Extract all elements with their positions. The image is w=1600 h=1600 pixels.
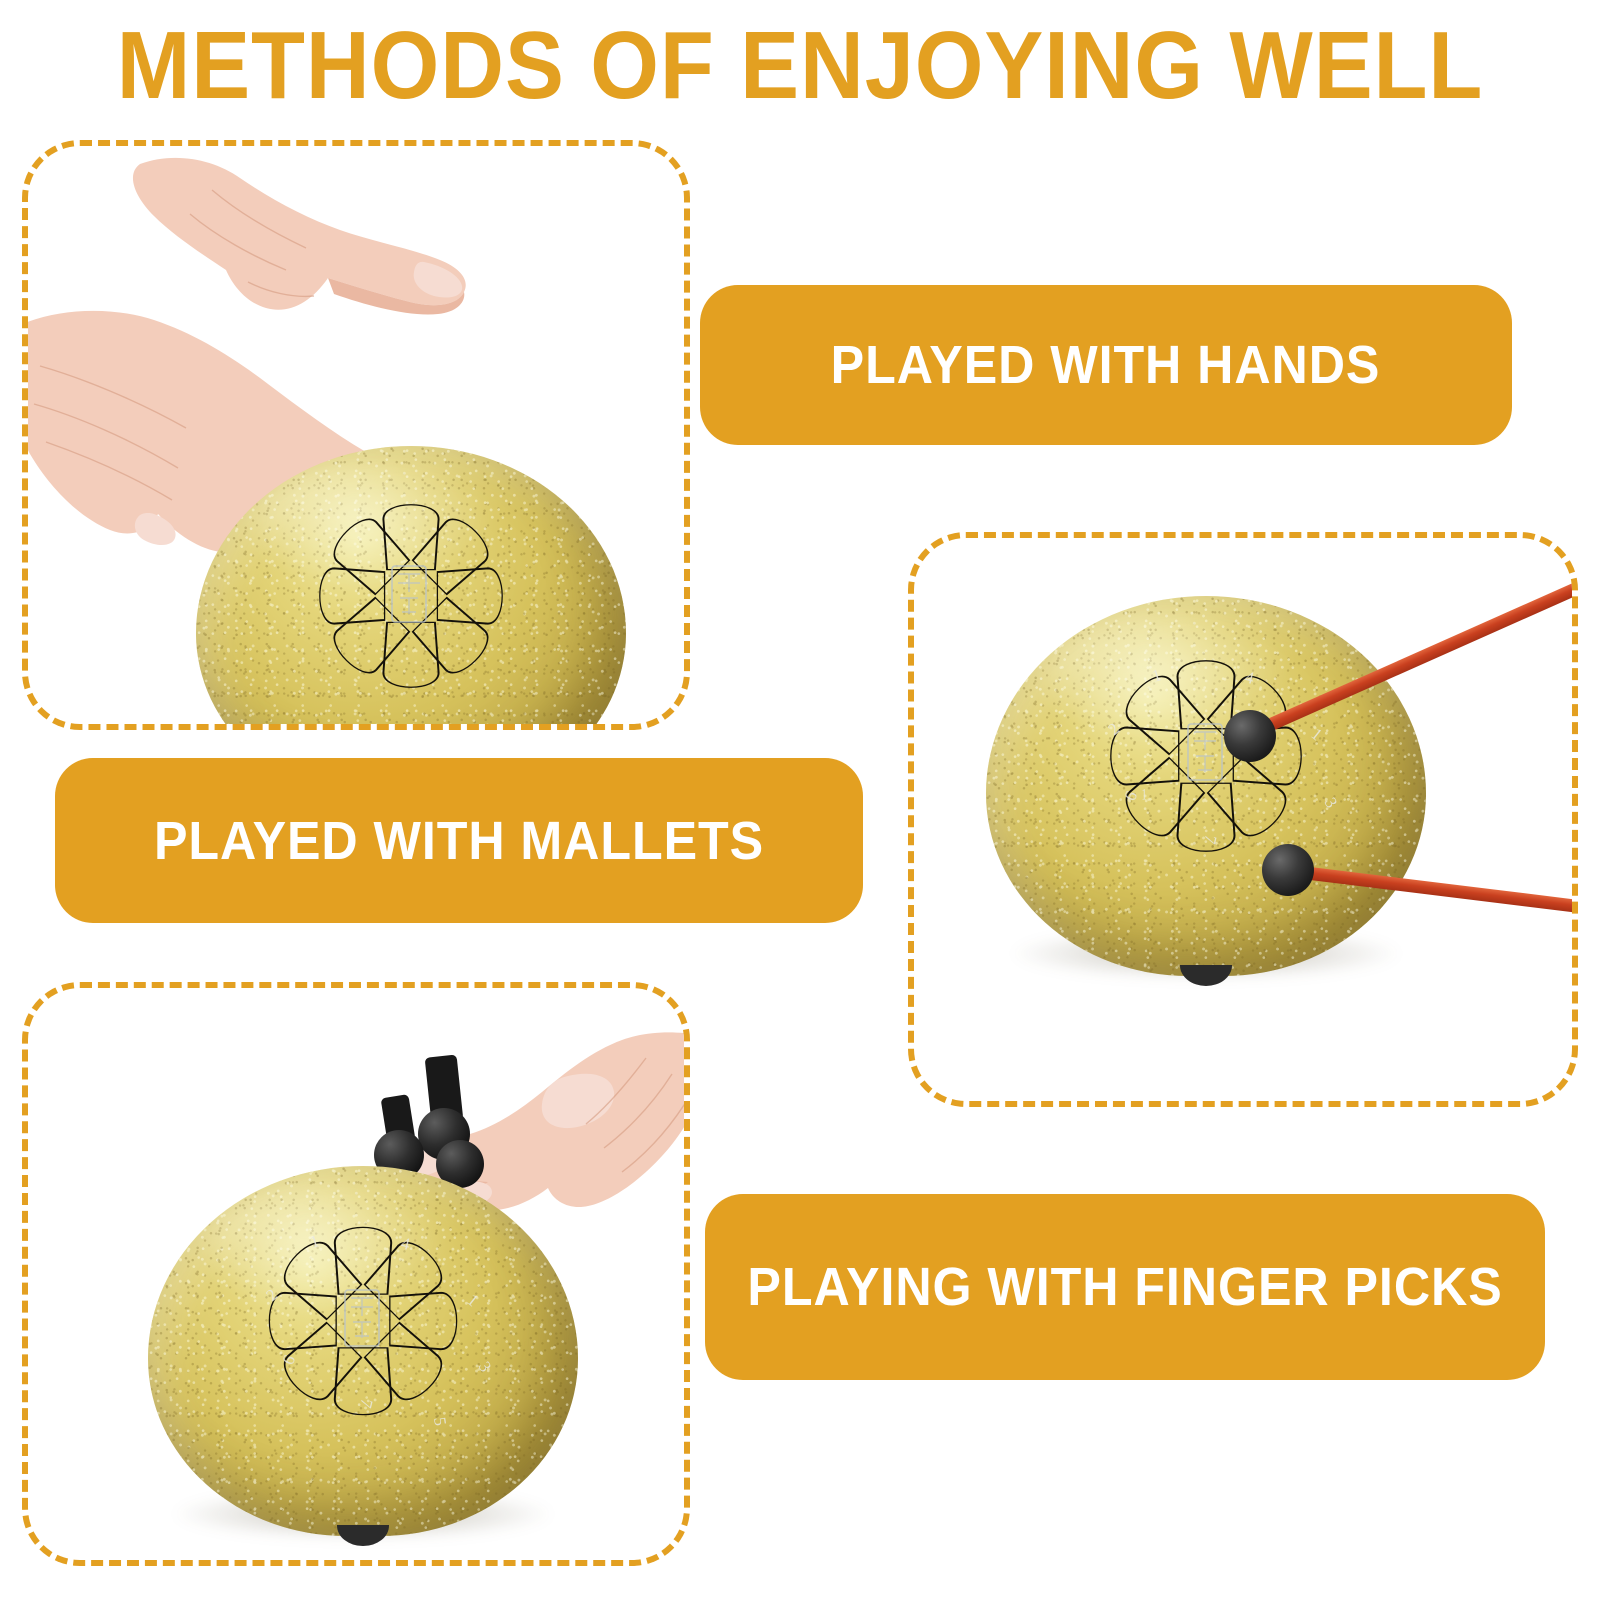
svg-text:3: 3: [1321, 794, 1342, 811]
drum-body: 1 4 1 3 5 7 6 2: [148, 1166, 578, 1536]
mallet-head: [1262, 844, 1314, 896]
banner-label-played-with-mallets: PLAYED WITH MALLETS: [154, 813, 764, 869]
drum-tongue-layout: [196, 446, 626, 730]
svg-text:3: 3: [475, 1358, 496, 1375]
svg-text:7: 7: [1200, 833, 1221, 846]
mallet-head: [1224, 710, 1276, 762]
banner-label-playing-with-finger-picks: PLAYING WITH FINGER PICKS: [747, 1259, 1502, 1315]
svg-text:1: 1: [1308, 724, 1326, 744]
banner-label-played-with-hands: PLAYED WITH HANDS: [831, 337, 1381, 393]
steel-tongue-drum-icon: 1: [986, 596, 1426, 976]
drum-body: 1: [986, 596, 1426, 976]
banner-played-with-hands[interactable]: PLAYED WITH HANDS: [700, 285, 1512, 445]
logo-stamp-icon: [392, 566, 426, 622]
svg-text:7: 7: [356, 1397, 377, 1410]
panel-played-with-finger-picks: 1 4 1 3 5 7 6 2: [22, 982, 690, 1566]
svg-text:1: 1: [1142, 785, 1147, 803]
banner-playing-with-finger-picks[interactable]: PLAYING WITH FINGER PICKS: [705, 1194, 1545, 1380]
steel-tongue-drum-icon: [196, 446, 626, 730]
panel-hands-content: [28, 146, 684, 724]
panel-finger-picks-content: 1 4 1 3 5 7 6 2: [28, 988, 684, 1560]
logo-stamp-icon: [1188, 724, 1222, 780]
drum-foot: [337, 1525, 389, 1545]
svg-text:1: 1: [1150, 665, 1163, 686]
panel-mallets-content: 1: [914, 538, 1572, 1101]
page-title: METHODS OF ENJOYING WELL: [64, 14, 1536, 118]
svg-text:1: 1: [464, 1290, 482, 1310]
drum-tongue-layout: 1: [986, 596, 1426, 976]
svg-text:5: 5: [430, 1416, 450, 1427]
panel-played-with-hands: [22, 140, 690, 730]
infographic-canvas: METHODS OF ENJOYING WELL: [0, 0, 1600, 1600]
svg-text:1: 1: [308, 1231, 321, 1252]
banner-played-with-mallets[interactable]: PLAYED WITH MALLETS: [55, 758, 863, 923]
steel-tongue-drum-icon: 1 4 1 3 5 7 6 2: [148, 1166, 578, 1536]
panel-played-with-mallets: 1: [908, 532, 1578, 1107]
drum-tongue-layout: 1 4 1 3 5 7 6 2: [148, 1166, 578, 1536]
drum-foot: [1180, 965, 1233, 986]
logo-stamp-icon: [345, 1290, 379, 1346]
drum-body: [196, 446, 626, 730]
